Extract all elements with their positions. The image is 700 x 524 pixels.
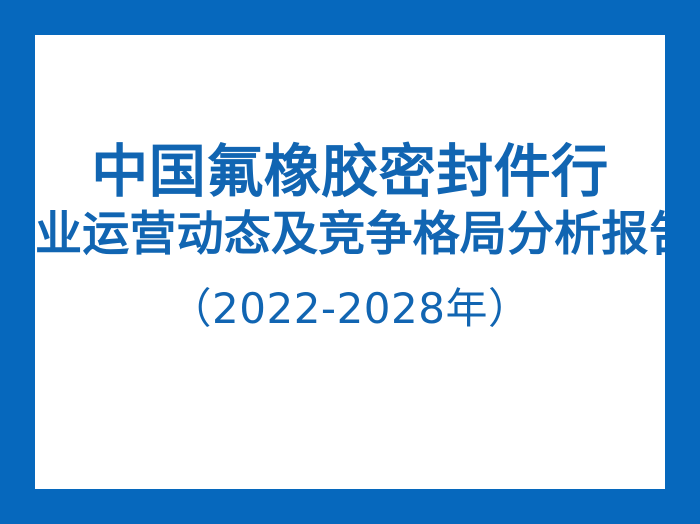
cover-subtitle-year-range: （2022-2028年） <box>35 279 665 339</box>
cover-title-line-2: 业运营动态及竞争格局分析报告 <box>35 205 665 265</box>
cover-title-block: 中国氟橡胶密封件行 业运营动态及竞争格局分析报告 （2022-2028年） <box>35 139 665 339</box>
cover-title-line-1: 中国氟橡胶密封件行 <box>35 139 665 205</box>
cover-white-panel: 中国氟橡胶密封件行 业运营动态及竞争格局分析报告 （2022-2028年） <box>35 35 665 489</box>
report-cover-page: 中国氟橡胶密封件行 业运营动态及竞争格局分析报告 （2022-2028年） <box>0 0 700 524</box>
